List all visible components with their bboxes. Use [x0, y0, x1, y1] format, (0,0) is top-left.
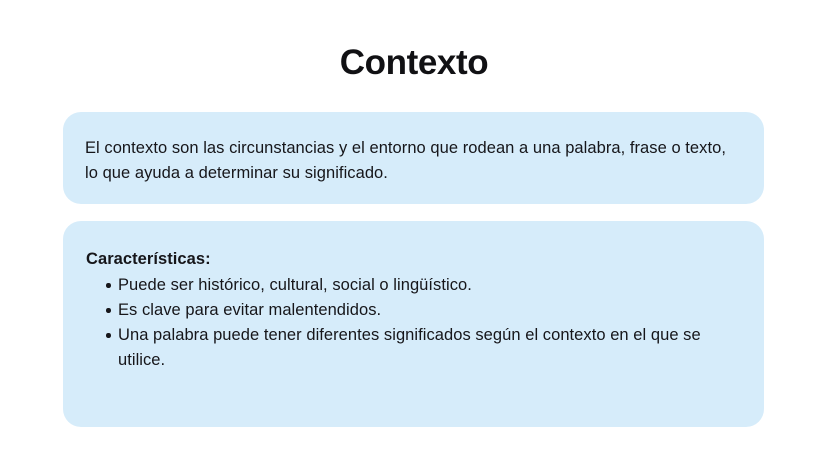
list-item: Puede ser histórico, cultural, social o …	[85, 273, 738, 298]
features-card: Características: Puede ser histórico, cu…	[63, 221, 764, 427]
page-title: Contexto	[0, 44, 828, 83]
features-list: Puede ser histórico, cultural, social o …	[85, 273, 738, 373]
bullet-icon	[106, 283, 111, 288]
list-item: Es clave para evitar malentendidos.	[85, 298, 738, 323]
definition-card: El contexto son las circunstancias y el …	[63, 112, 764, 204]
list-item: Una palabra puede tener diferentes signi…	[85, 323, 738, 373]
list-item-label: Es clave para evitar malentendidos.	[118, 301, 381, 319]
definition-paragraph: El contexto son las circunstancias y el …	[85, 136, 738, 186]
bullet-icon	[106, 333, 111, 338]
list-item-label: Puede ser histórico, cultural, social o …	[118, 276, 472, 294]
bullet-icon	[106, 308, 111, 313]
features-heading: Características:	[86, 248, 738, 271]
list-item-label: Una palabra puede tener diferentes signi…	[118, 326, 701, 369]
slide-canvas: Contexto El contexto son las circunstanc…	[0, 0, 828, 466]
